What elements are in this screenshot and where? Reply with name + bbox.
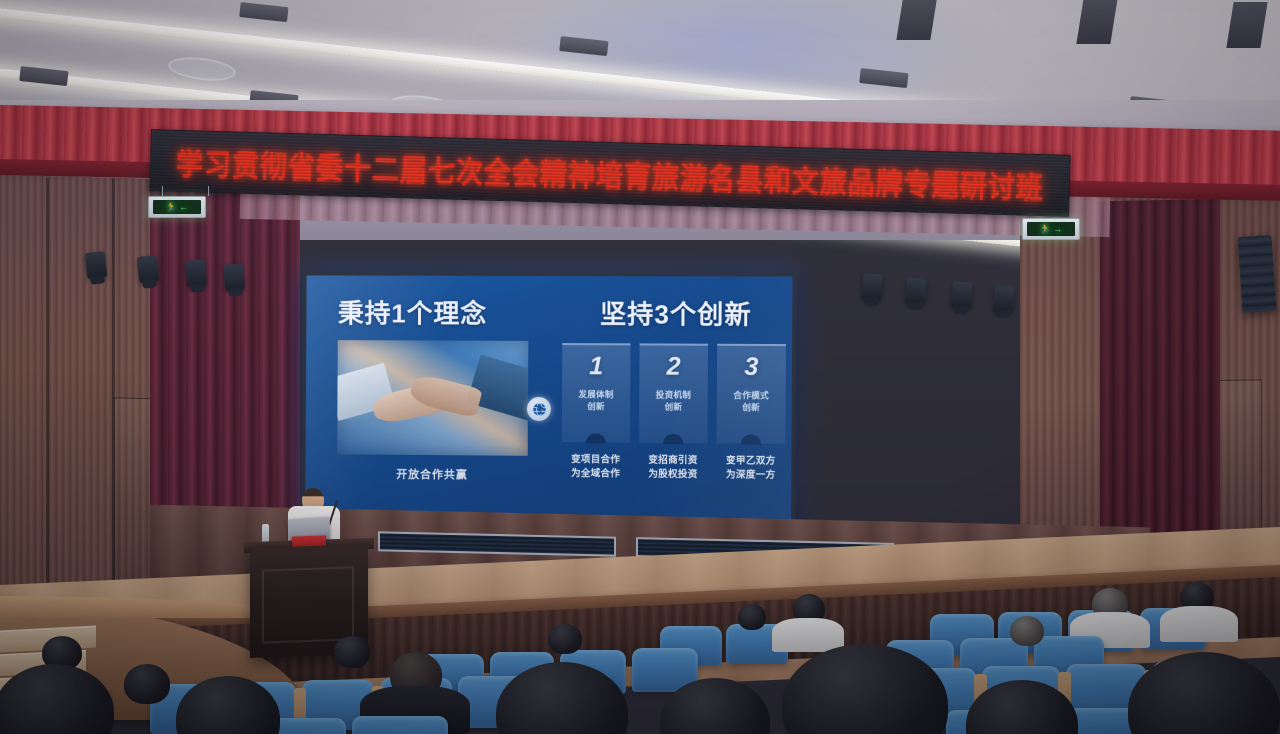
innovation-card-2: 2 投资机制 创新 变招商引资 为股权投资: [639, 343, 709, 507]
card-number: 3: [744, 355, 758, 380]
exit-sign-hanger: [162, 186, 163, 196]
stage-spotlight: [85, 251, 108, 279]
stage-spotlight: [951, 281, 973, 308]
card-label-line2: 创新: [664, 402, 682, 412]
presentation-slide: 秉持1个理念 坚持3个创新 开放合作共赢: [305, 275, 792, 520]
running-person-icon: 🏃: [1040, 225, 1051, 234]
light-connector: [239, 2, 288, 22]
audience-head: [334, 636, 370, 668]
card-label-line1: 合作模式: [733, 390, 769, 400]
innovation-card-3: 3 合作模式 创新 变甲乙双方 为深度一方: [716, 344, 786, 509]
stage-spotlight: [185, 259, 208, 287]
slide-divider: [537, 341, 538, 491]
arrow-left-icon: ←: [179, 203, 188, 212]
exit-sign-hanger: [208, 186, 209, 196]
ceiling-beam: [1226, 2, 1267, 48]
card-label: 合作模式 创新: [733, 389, 769, 414]
stage-spotlight: [905, 277, 927, 304]
card-label-line2: 创新: [742, 403, 760, 413]
auditorium-photo: 学习贯彻省委十二届七次全会精神培育旅游名县和文旅品牌专题研讨班 🏃 ← 🏃 → …: [0, 0, 1280, 734]
exit-sign-right: 🏃 →: [1022, 218, 1080, 240]
audience-shoulders: [1160, 606, 1238, 642]
card-body: 2 投资机制 创新: [639, 343, 708, 443]
running-person-icon: 🏃: [166, 203, 177, 212]
arrow-right-icon: →: [1053, 225, 1062, 234]
slide-concept-column: 开放合作共赢: [319, 340, 528, 506]
card-caption: 变招商引资 为股权投资: [639, 454, 708, 483]
ceiling-vent: [167, 54, 237, 84]
stage-spotlight: [137, 255, 160, 283]
card-label-line1: 投资机制: [656, 390, 692, 400]
card-caption-line1: 变招商引资: [648, 455, 697, 466]
audience-seating: [0, 560, 1280, 734]
card-label: 发展体制 创新: [578, 388, 613, 413]
globe-icon: [527, 397, 551, 421]
card-label-line1: 发展体制: [578, 389, 613, 399]
exit-sign-left: 🏃 ←: [148, 196, 206, 218]
card-number: 2: [667, 355, 681, 380]
innovation-card-1: 1 发展体制 创新 变项目合作 为全域合作: [561, 343, 630, 507]
stage-spotlight: [223, 263, 246, 291]
card-caption-line1: 变项目合作: [571, 454, 620, 465]
audience-shoulders: [772, 618, 844, 652]
card-body: 3 合作模式 创新: [717, 344, 786, 444]
projection-screen: 秉持1个理念 坚持3个创新 开放合作共赢: [301, 271, 796, 524]
card-caption-line1: 变甲乙双方: [726, 455, 776, 466]
card-body: 1 发展体制 创新: [562, 343, 631, 443]
slide-body: 开放合作共赢 1: [319, 340, 778, 508]
innovation-cards: 1 发展体制 创新 变项目合作 为全域合作: [543, 341, 786, 508]
audience-head-foreground: [0, 664, 114, 734]
seat: [352, 716, 448, 734]
exit-sign-face: 🏃 →: [1027, 222, 1075, 236]
card-label: 投资机制 创新: [656, 389, 692, 414]
stage-curtain-left: [150, 184, 300, 517]
audience-head: [738, 604, 766, 630]
stage-spotlight: [861, 273, 883, 300]
ceiling-beam: [1076, 0, 1117, 44]
light-connector: [19, 66, 68, 86]
audience-head: [124, 664, 170, 704]
card-caption-line2: 为全域合作: [571, 468, 620, 479]
slide-heading-right: 坚持3个创新: [600, 294, 752, 332]
pa-speaker-stack: [1237, 235, 1276, 313]
card-caption: 变甲乙双方 为深度一方: [716, 454, 785, 483]
audience-head-foreground: [1128, 652, 1280, 734]
audience-head: [548, 624, 582, 654]
wall-seam: [46, 178, 49, 598]
stage-spotlight: [993, 285, 1015, 312]
card-label-line2: 创新: [587, 402, 605, 412]
slide-heading-left: 秉持1个理念: [338, 293, 487, 330]
handshake-photo: [337, 340, 528, 456]
card-number: 1: [589, 354, 603, 379]
exit-sign-face: 🏃 ←: [153, 200, 201, 214]
card-caption-line2: 为股权投资: [648, 469, 697, 480]
card-caption-line2: 为深度一方: [726, 470, 776, 481]
slide-headings: 秉持1个理念 坚持3个创新: [320, 287, 778, 332]
audience-head: [1010, 616, 1044, 646]
card-caption: 变项目合作 为全域合作: [561, 453, 629, 482]
slide-image-caption: 开放合作共赢: [337, 465, 528, 483]
